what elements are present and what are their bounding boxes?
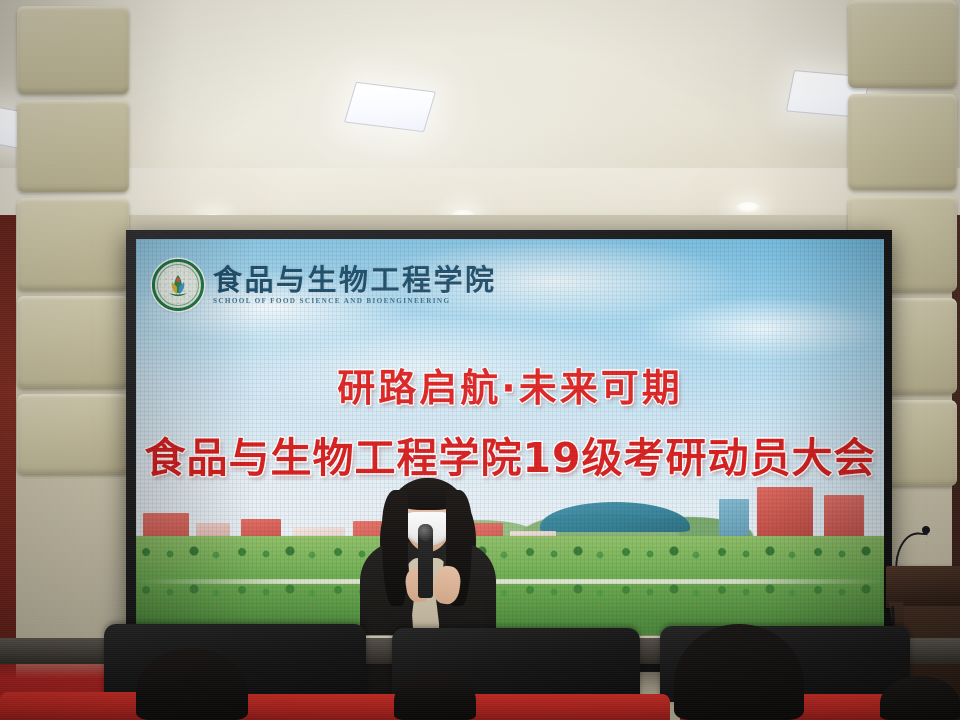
audience-member-right [880, 676, 960, 720]
slide-title-line1: 研路启航·未来可期 [136, 357, 884, 412]
school-name-chinese: 食品与生物工程学院 [213, 265, 497, 295]
emblem-artwork-icon [165, 273, 191, 299]
conference-hall-photo: 食品与生物工程学院 SCHOOL OF FOOD SCIENCE AND BIO… [0, 0, 960, 720]
school-name-english: SCHOOL OF FOOD SCIENCE AND BIOENGINEERIN… [213, 297, 497, 305]
presenter-hair-left [382, 490, 408, 606]
soffit-downlight-right [735, 202, 761, 213]
school-logo: 食品与生物工程学院 SCHOOL OF FOOD SCIENCE AND BIO… [152, 259, 497, 311]
gooseneck-microphone-head [922, 526, 930, 534]
audience-foreground [0, 600, 960, 720]
school-emblem-icon [152, 259, 204, 311]
handheld-microphone [418, 524, 433, 598]
slide-titles: 研路启航·未来可期 食品与生物工程学院19级考研动员大会 [136, 357, 884, 484]
slide-title-line2: 食品与生物工程学院19级考研动员大会 [136, 424, 884, 484]
